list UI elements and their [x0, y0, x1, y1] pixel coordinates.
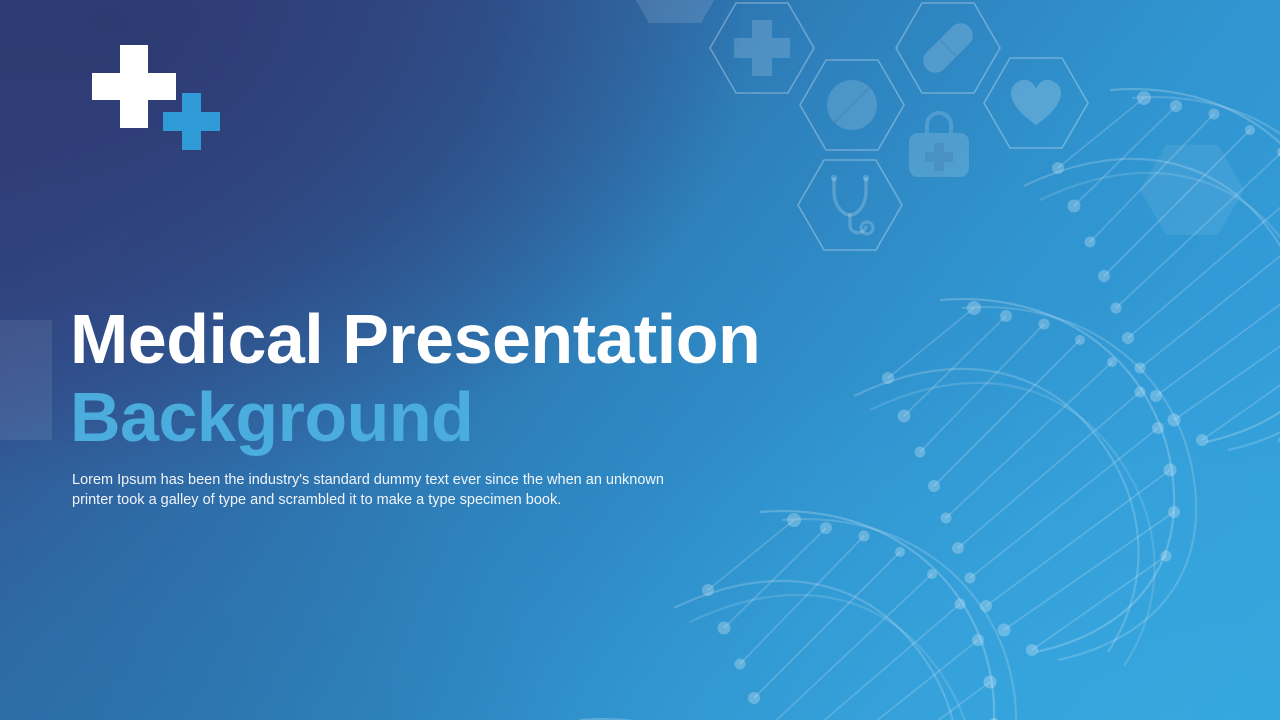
hexagon-heart-icon — [984, 58, 1088, 148]
hexagon-filled-icon — [623, 0, 727, 23]
presentation-slide: Medical Presentation Background Lorem Ip… — [0, 0, 1280, 720]
page-subtitle: Background — [70, 378, 790, 456]
hexagon-filled-right-icon — [1140, 145, 1244, 235]
hexagon-stethoscope-icon — [798, 160, 902, 250]
hexagon-tablet-icon — [800, 60, 904, 150]
left-accent-bar — [0, 320, 52, 440]
cross-icon — [163, 93, 220, 150]
body-paragraph: Lorem Ipsum has been the industry's stan… — [72, 470, 672, 510]
hexagon-capsule-icon — [896, 3, 1000, 93]
medical-bag-icon — [909, 113, 969, 177]
title-block: Medical Presentation Background Lorem Ip… — [70, 300, 790, 510]
hexagon-cross-icon — [710, 3, 814, 93]
medical-cross-logo[interactable] — [86, 42, 226, 152]
page-title: Medical Presentation — [70, 300, 790, 378]
